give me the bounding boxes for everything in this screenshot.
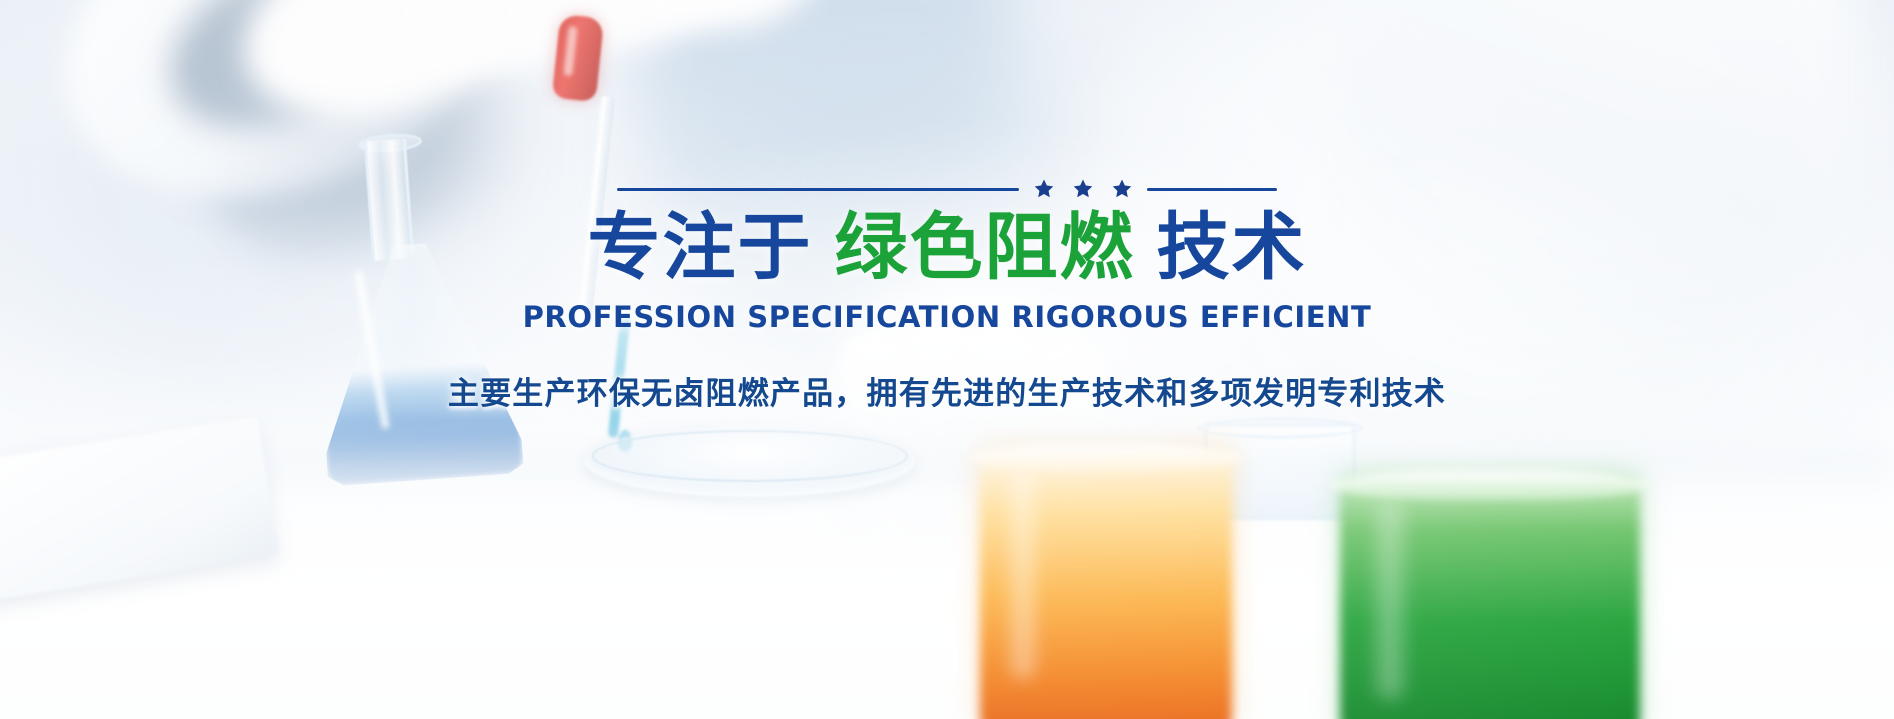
headline-part-3: 技术 [1157,205,1307,290]
decorative-divider [617,178,1277,200]
banner-content: 专注于绿色阻燃技术 PROFESSION SPECIFICATION RIGOR… [0,0,1894,719]
headline-part-1: 专注于 [588,205,813,290]
star-icon [1033,178,1055,200]
tagline-chinese: 主要生产环保无卤阻燃产品，拥有先进的生产技术和多项发明专利技术 [448,368,1446,413]
headline-part-2: 绿色阻燃 [835,205,1135,290]
hero-banner: 专注于绿色阻燃技术 PROFESSION SPECIFICATION RIGOR… [0,0,1894,719]
divider-line-right [1147,188,1277,191]
page-title: 专注于绿色阻燃技术 [588,210,1307,286]
divider-stars [1033,178,1133,200]
star-icon [1072,178,1094,200]
star-icon [1111,178,1133,200]
subtitle-english: PROFESSION SPECIFICATION RIGOROUS EFFICI… [523,300,1372,334]
divider-line-left [617,188,1019,191]
